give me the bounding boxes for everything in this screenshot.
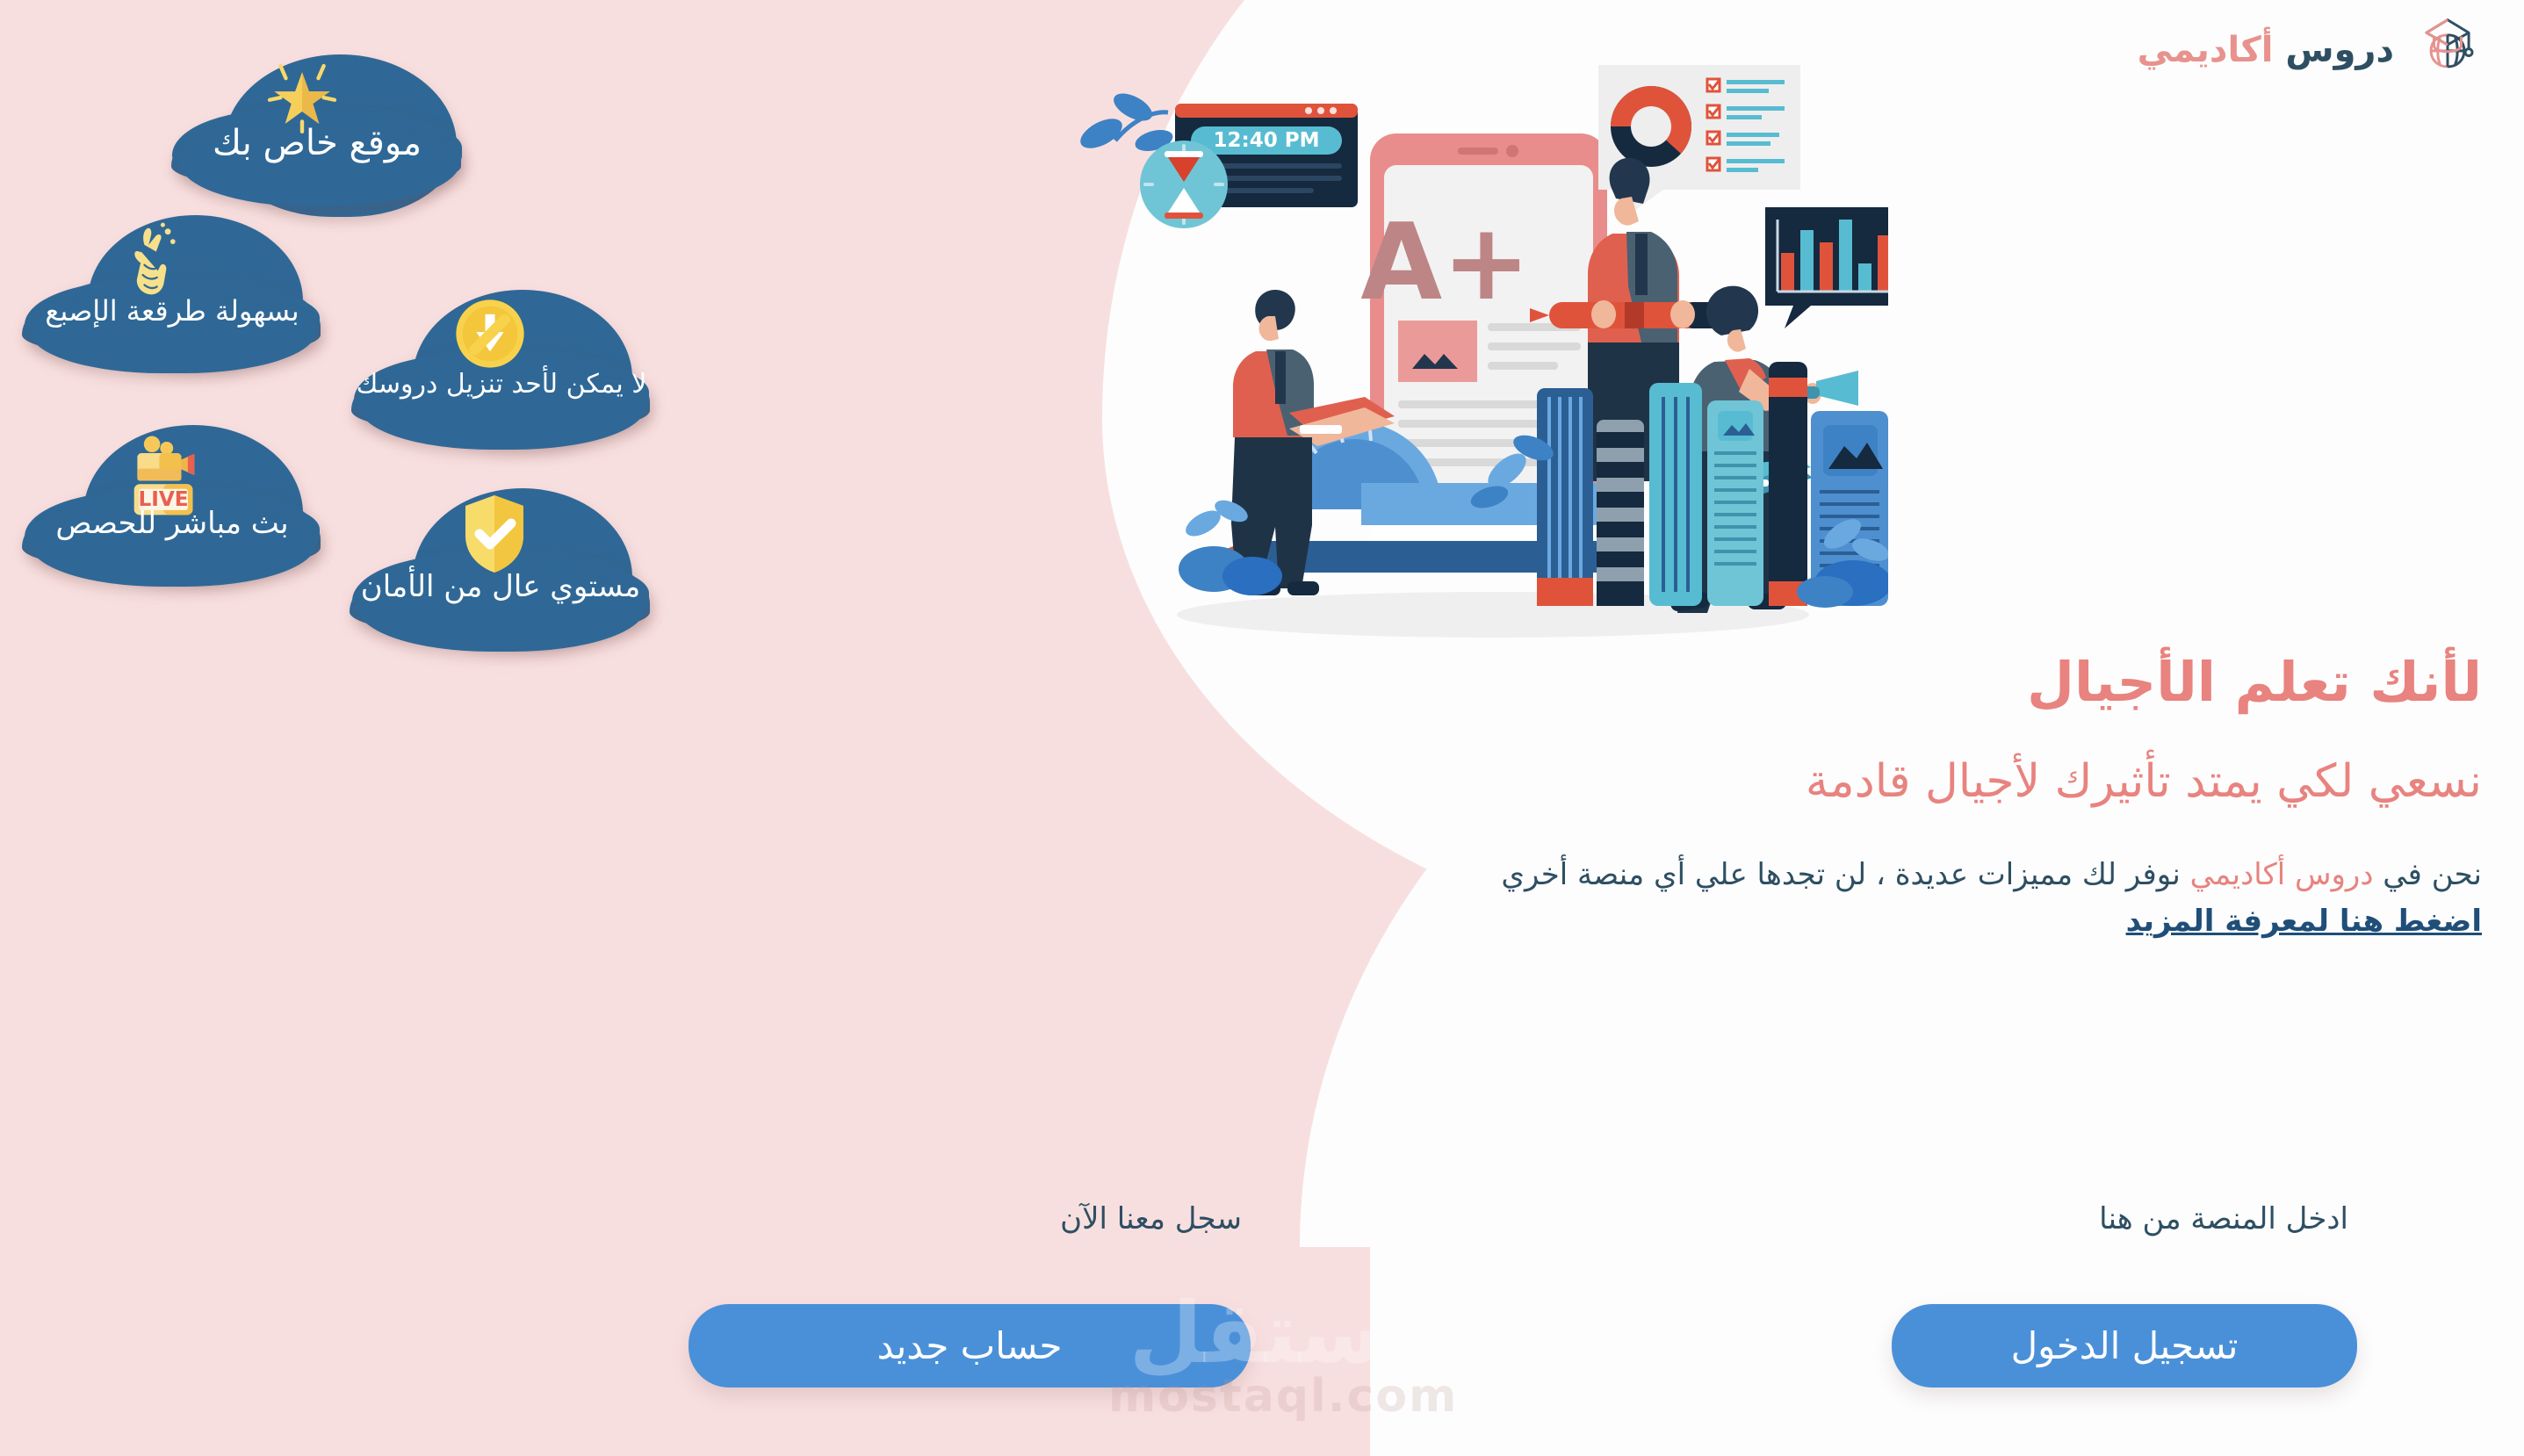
feature-label-no-download: لا يمكن لأحد تنزيل دروسك	[354, 369, 649, 400]
svg-text:12:40 PM: 12:40 PM	[1214, 129, 1320, 152]
brand-name-accent: أكاديمي	[2138, 30, 2274, 70]
feature-label-high-security: مستوي عال من الأمان	[352, 569, 649, 604]
paragraph-part2: نوفر لك مميزات عديدة ، لن تجدها علي أي م…	[1501, 857, 2189, 892]
bar-chart-bubble	[1765, 207, 1888, 328]
paragraph-brand: دروس أكاديمي	[2190, 857, 2374, 892]
feature-label-finger-snap: بسهولة طرقعة الإصبع	[25, 294, 320, 328]
snapping-fingers-icon	[119, 218, 186, 302]
learn-more-link[interactable]: اضغط هنا لمعرفة المزيد	[2126, 904, 2482, 939]
register-caption: سجل معنا الآن	[1060, 1201, 1242, 1236]
page-root: دروس أكاديمي	[0, 0, 2524, 1456]
e-learning-people-illustration: 12:40 PM	[1080, 53, 1888, 667]
page-paragraph: نحن في دروس أكاديمي نوفر لك مميزات عديدة…	[1472, 852, 2482, 944]
brand-logo[interactable]: دروس أكاديمي	[2138, 12, 2485, 88]
login-button[interactable]: تسجيل الدخول	[1892, 1304, 2357, 1388]
page-subheadline: نسعي لكي يمتد تأثيرك لأجيال قادمة	[1358, 755, 2482, 808]
feature-label-own-site: موقع خاص بك	[172, 123, 462, 163]
hourglass-clock-icon	[1140, 141, 1228, 228]
feature-label-live-streaming: بث مباشر للحصص	[25, 506, 320, 541]
shield-check-icon	[455, 490, 534, 578]
login-caption: ادخل المنصة من هنا	[2099, 1201, 2348, 1236]
graduation-cap-globe-icon	[2410, 12, 2485, 88]
paragraph-part1: نحن في	[2374, 857, 2483, 892]
svg-text:A+: A+	[1360, 202, 1530, 324]
brand-name: دروس أكاديمي	[2138, 30, 2394, 70]
register-button[interactable]: حساب جديد	[689, 1304, 1251, 1388]
no-download-icon	[450, 293, 530, 374]
brand-name-dark: دروس	[2285, 30, 2394, 70]
